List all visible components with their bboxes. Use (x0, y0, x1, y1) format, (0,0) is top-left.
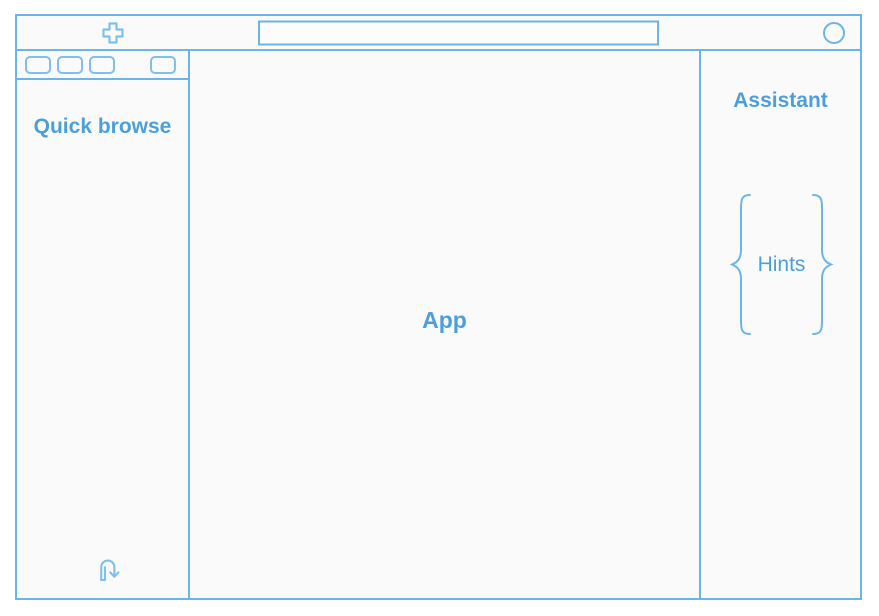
search-input[interactable] (258, 20, 659, 45)
assistant-panel: Assistant Hints (701, 51, 860, 598)
toolbar-chip-4[interactable] (150, 56, 176, 74)
header-bar (17, 16, 860, 51)
u-turn-arrow-icon[interactable] (95, 554, 125, 584)
app-label: App (422, 307, 467, 334)
toolbar-chip-3[interactable] (89, 56, 115, 74)
left-curly-brace (728, 192, 754, 337)
sidebar-toolbar (17, 51, 188, 80)
sidebar-panel: Quick browse (17, 51, 190, 598)
circle-avatar-icon[interactable] (823, 22, 845, 44)
hints-label: Hints (754, 253, 810, 277)
window-frame: Quick browse App Assistant (15, 14, 862, 600)
plus-icon[interactable] (99, 20, 127, 46)
quick-browse-title: Quick browse (17, 113, 188, 142)
right-curly-brace (809, 192, 835, 337)
body-row: Quick browse App Assistant (17, 51, 860, 598)
app-panel[interactable]: App (190, 51, 701, 598)
toolbar-chip-2[interactable] (57, 56, 83, 74)
assistant-title: Assistant (701, 89, 860, 113)
hints-block: Hints (713, 192, 850, 337)
toolbar-chip-1[interactable] (25, 56, 51, 74)
sidebar-content: Quick browse (17, 80, 188, 598)
